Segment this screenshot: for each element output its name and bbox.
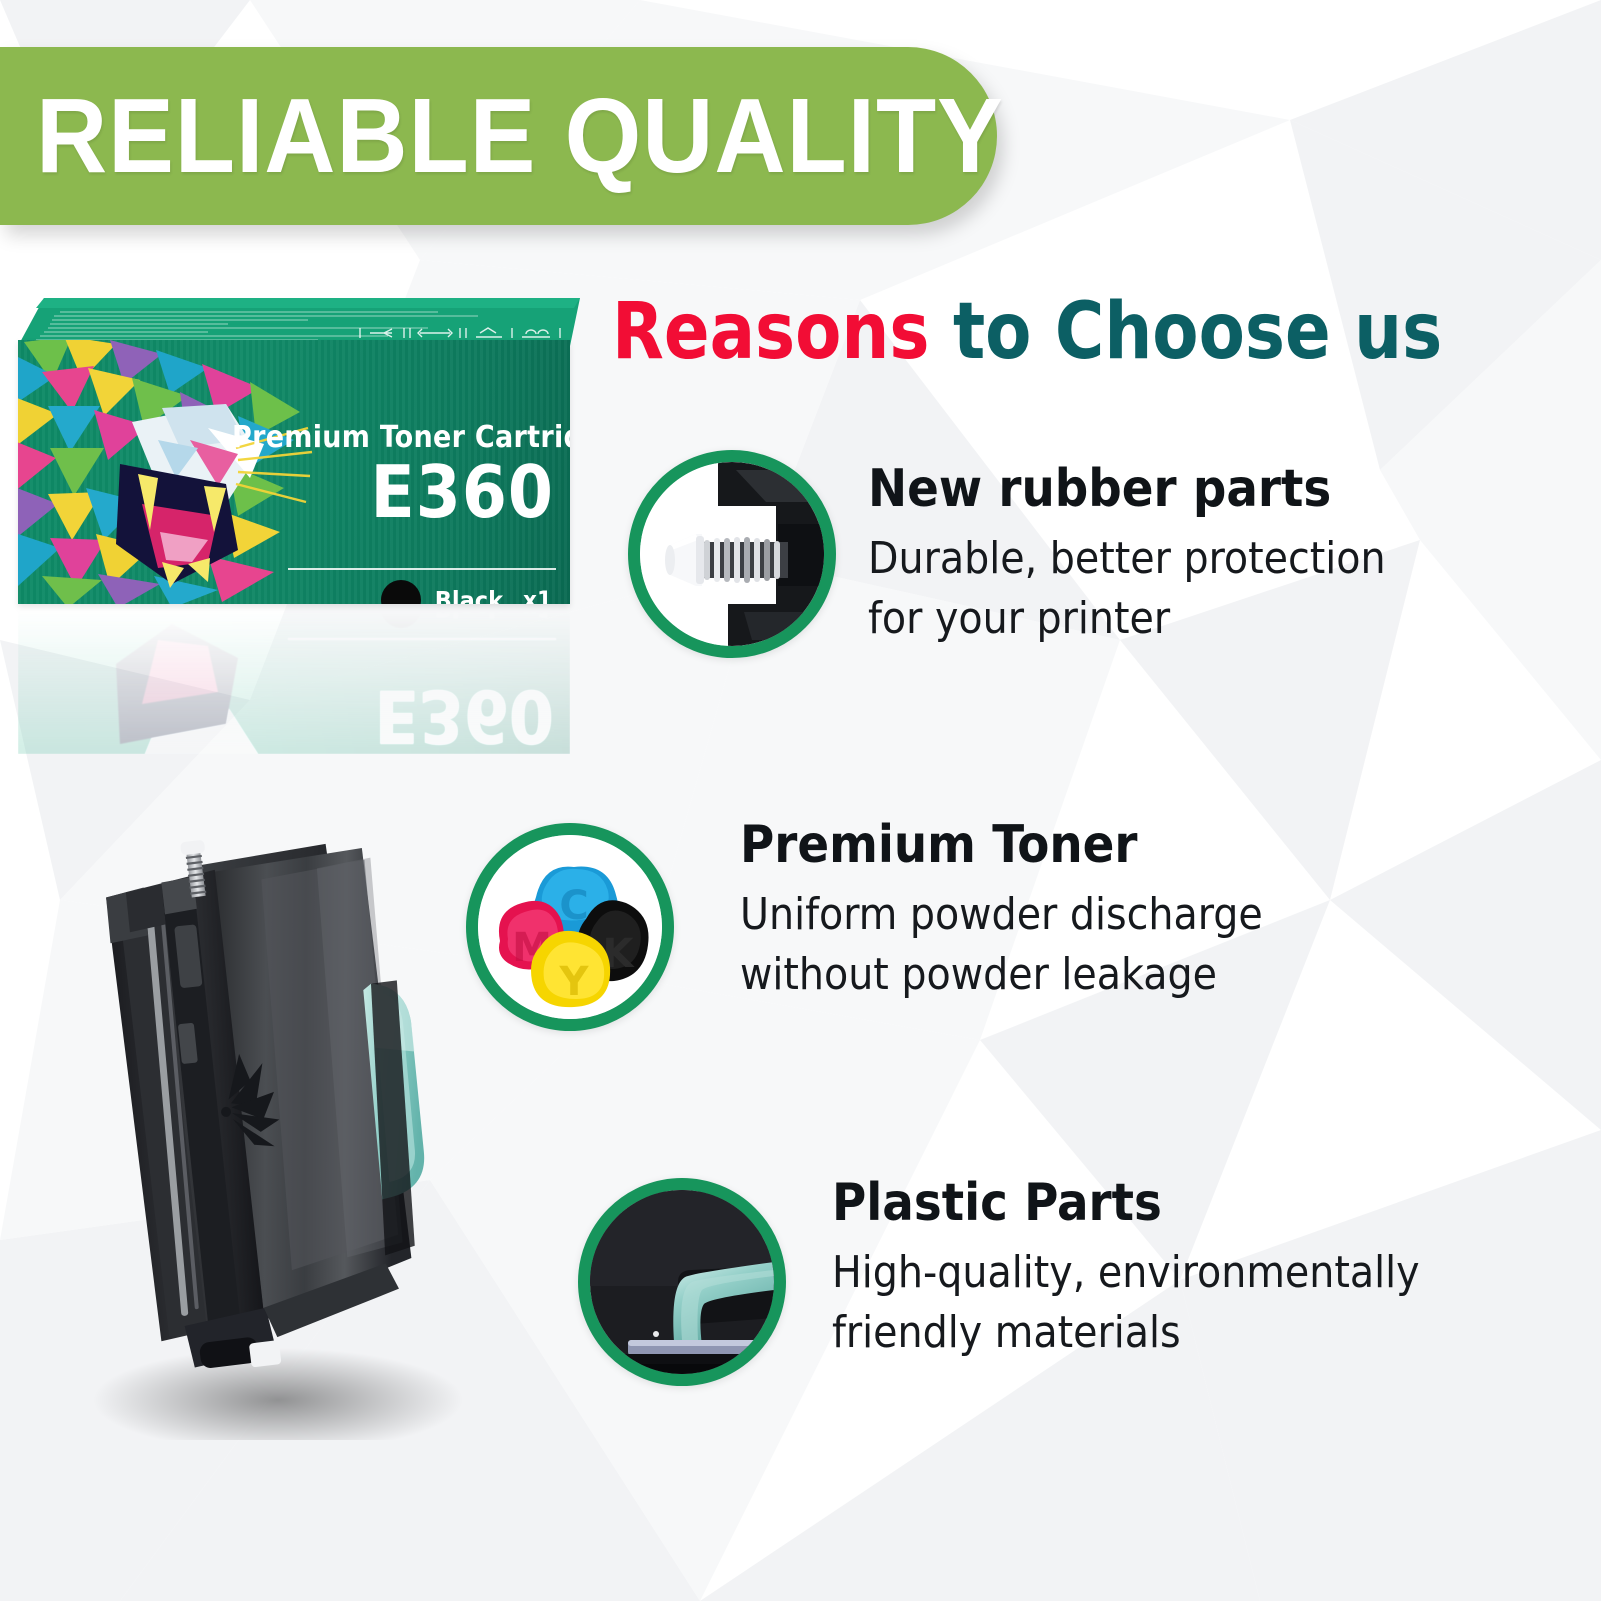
product-box: Premium Toner Cartridge E360 Black x1 [8, 296, 580, 716]
feature-3-text: Plastic Parts High-quality, environmenta… [832, 1176, 1420, 1364]
page-title-rest: to Choose us [930, 287, 1443, 377]
feature-2-text: Premium Toner Uniform powder discharge w… [740, 818, 1263, 1006]
feature-2-body: Uniform powder discharge without powder … [740, 885, 1263, 1006]
reflection-lion-art [18, 604, 314, 754]
product-box-divider [288, 568, 556, 570]
feature-3-title: Plastic Parts [832, 1176, 1420, 1231]
feature-3-body-line-1: High-quality, environmentally [832, 1243, 1420, 1304]
product-box-reflection: Premium Toner Cartridge E360 Black x1 [18, 604, 570, 754]
svg-text:Y: Y [559, 959, 590, 1005]
feature-1-body-line-2: for your printer [868, 589, 1386, 650]
feature-1-body-line-1: Durable, better protection [868, 529, 1386, 590]
page-title-accent: Reasons [612, 287, 930, 377]
page-title: Reasons to Choose us [612, 293, 1442, 371]
rubber-gear-spring-icon [628, 450, 836, 658]
product-box-face: Premium Toner Cartridge E360 Black x1 [18, 340, 570, 604]
cmyk-toner-powder-icon: C M K Y [466, 823, 674, 1031]
feature-2-title: Premium Toner [740, 818, 1263, 873]
feature-2-body-line-2: without powder leakage [740, 945, 1263, 1006]
feature-1-body: Durable, better protection for your prin… [868, 529, 1386, 650]
color-name-label: Black [435, 586, 503, 605]
reflection-quantity: x1 [523, 604, 552, 622]
feature-1-text: New rubber parts Durable, better protect… [868, 462, 1386, 650]
feature-3-body-line-2: friendly materials [832, 1303, 1420, 1364]
black-toner-cartridge-photo [78, 800, 508, 1440]
colorful-lion-head-artwork [18, 340, 314, 604]
reliable-quality-banner: RELIABLE QUALITY [0, 47, 997, 225]
black-color-dot [381, 580, 421, 604]
product-box-color-row: Black x1 [381, 580, 552, 604]
banner-label: RELIABLE QUALITY [36, 83, 1004, 189]
feature-2-body-line-1: Uniform powder discharge [740, 885, 1263, 946]
reflection-color-row: Black x1 [381, 604, 552, 628]
feature-3-body: High-quality, environmentally friendly m… [832, 1243, 1420, 1364]
product-box-model: E360 [371, 456, 554, 528]
reflection-color-name: Black [435, 604, 503, 623]
teal-plastic-handle-icon [578, 1178, 786, 1386]
quantity-label: x1 [523, 586, 552, 604]
reflection-black-dot [381, 604, 421, 628]
feature-1-title: New rubber parts [868, 462, 1386, 517]
reflection-divider [288, 638, 556, 640]
reflection-model: E360 [375, 680, 554, 752]
